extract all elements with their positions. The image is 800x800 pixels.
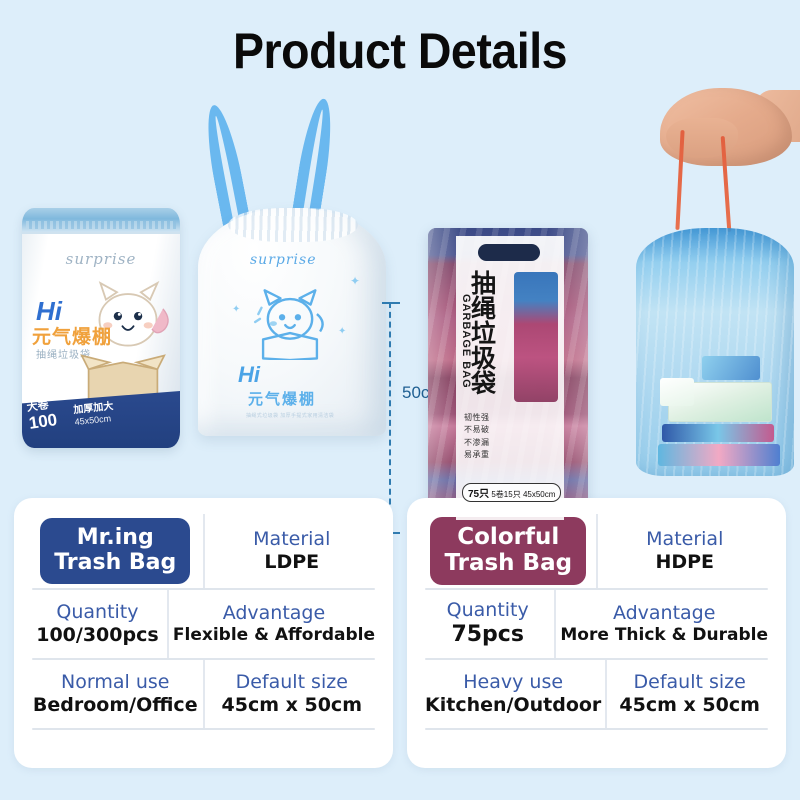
product-badge-mring: Mr.ing Trash Bag bbox=[40, 518, 190, 583]
badge-line-1: Colorful bbox=[444, 525, 572, 551]
package-spec-count: 75只 bbox=[468, 489, 489, 500]
content-item bbox=[658, 444, 780, 466]
page-title: Product Details bbox=[28, 22, 772, 80]
canister-brand-script: surprise bbox=[22, 250, 180, 268]
package-feature: 不渗漏 bbox=[464, 437, 490, 449]
advantage-label: Advantage bbox=[613, 603, 716, 625]
blue-trash-bag bbox=[636, 228, 794, 476]
sparkle-icon: ✦ bbox=[350, 274, 360, 288]
package-spec-size: 45x50cm bbox=[523, 490, 555, 499]
package-spec-detail: 5卷15只 bbox=[491, 490, 520, 499]
card-quantity-row: Quantity 100/300pcs Advantage Flexible &… bbox=[28, 590, 379, 658]
quantity-label: Quantity bbox=[56, 602, 138, 624]
advantage-cell: Advantage More Thick & Durable bbox=[556, 590, 772, 658]
size-value: 45cm x 50cm bbox=[619, 694, 760, 717]
usage-value: Bedroom/Office bbox=[33, 694, 198, 717]
spec-card-mring: Mr.ing Trash Bag Material LDPE Quantity … bbox=[14, 498, 393, 768]
package-window bbox=[514, 272, 558, 402]
spec-cards-container: Mr.ing Trash Bag Material LDPE Quantity … bbox=[0, 498, 800, 768]
product-photo-band: surprise Hi 元气爆棚 抽绳垃圾袋 bbox=[0, 88, 800, 488]
sparkle-icon: ✦ bbox=[232, 304, 240, 315]
card-badge-row: Mr.ing Trash Bag Material LDPE bbox=[28, 514, 379, 588]
content-item bbox=[702, 356, 760, 380]
usage-label: Heavy use bbox=[463, 672, 563, 694]
advantage-label: Advantage bbox=[223, 603, 326, 625]
package-feature: 易承重 bbox=[464, 449, 490, 461]
size-value: 45cm x 50cm bbox=[222, 694, 363, 717]
canister-count-number: 100 bbox=[28, 410, 59, 432]
product-badge-colorful: Colorful Trash Bag bbox=[430, 517, 586, 585]
usage-cell: Heavy use Kitchen/Outdoor bbox=[421, 660, 607, 728]
spec-card-colorful: Colorful Trash Bag Material HDPE Quantit… bbox=[407, 498, 786, 768]
size-label: Default size bbox=[236, 672, 348, 694]
product-details-page: Product Details surprise Hi 元气爆棚 抽绳垃圾袋 bbox=[0, 0, 800, 800]
canister-feature-label: 加厚加大 45x50cm bbox=[73, 401, 115, 428]
row-divider bbox=[32, 728, 375, 730]
badge-cell: Mr.ing Trash Bag bbox=[28, 514, 205, 588]
badge-line-2: Trash Bag bbox=[444, 551, 572, 577]
sparkle-icon: ✦ bbox=[338, 326, 346, 337]
bag-cinch-gathers bbox=[228, 208, 358, 242]
package-brand-logo bbox=[478, 244, 540, 261]
quantity-cell: Quantity 100/300pcs bbox=[28, 590, 169, 658]
quantity-value: 100/300pcs bbox=[36, 624, 158, 647]
usage-value: Kitchen/Outdoor bbox=[425, 694, 601, 717]
advantage-cell: Advantage Flexible & Affordable bbox=[169, 590, 379, 658]
canister-lid bbox=[22, 208, 180, 234]
card-usage-row: Normal use Bedroom/Office Default size 4… bbox=[28, 660, 379, 728]
usage-cell: Normal use Bedroom/Office bbox=[28, 660, 205, 728]
size-cell: Default size 45cm x 50cm bbox=[607, 660, 772, 728]
white-bag-slogan: 元气爆棚 bbox=[248, 388, 316, 409]
material-label: Material bbox=[253, 529, 330, 551]
quantity-label: Quantity bbox=[447, 600, 529, 622]
card-usage-row: Heavy use Kitchen/Outdoor Default size 4… bbox=[421, 660, 772, 728]
size-cell: Default size 45cm x 50cm bbox=[205, 660, 380, 728]
advantage-value: Flexible & Affordable bbox=[173, 625, 375, 645]
material-value: LDPE bbox=[264, 551, 319, 574]
cat-outline-icon bbox=[250, 284, 330, 360]
white-bag-fine-print: 抽绳式垃圾袋 加厚手提式家用清洁袋 bbox=[246, 412, 334, 419]
material-value: HDPE bbox=[655, 551, 714, 574]
product-image-canister: surprise Hi 元气爆棚 抽绳垃圾袋 bbox=[22, 208, 180, 448]
product-image-white-bag: surprise ✦ ✦ ✦ Hi 元气爆棚 抽 bbox=[196, 96, 396, 436]
quantity-value: 75pcs bbox=[451, 622, 524, 648]
product-image-hand-holding-bag bbox=[596, 88, 800, 488]
bag-contents bbox=[658, 344, 778, 466]
white-bag-body: surprise ✦ ✦ ✦ Hi 元气爆棚 抽 bbox=[198, 208, 386, 436]
package-feature: 不易破 bbox=[464, 424, 490, 436]
badge-line-1: Mr.ing bbox=[54, 526, 176, 551]
package-spec-badge: 75只 5卷15只 45x50cm bbox=[462, 483, 561, 502]
product-image-colorful-package: 抽绳垃圾袋 GARBAGE BAG 韧性强 不易破 不渗漏 易承重 75只 5卷… bbox=[428, 228, 588, 528]
package-feature: 韧性强 bbox=[464, 412, 490, 424]
package-label-panel: 抽绳垃圾袋 GARBAGE BAG 韧性强 不易破 不渗漏 易承重 75只 5卷… bbox=[456, 236, 564, 520]
canister-count-label: 大卷 100 bbox=[26, 399, 58, 432]
badge-cell: Colorful Trash Bag bbox=[421, 514, 598, 588]
white-bag-brand-script: surprise bbox=[250, 252, 317, 268]
badge-line-2: Trash Bag bbox=[54, 551, 176, 576]
material-cell: Material HDPE bbox=[598, 514, 773, 588]
size-label: Default size bbox=[634, 672, 746, 694]
usage-label: Normal use bbox=[61, 672, 169, 694]
quantity-cell: Quantity 75pcs bbox=[421, 590, 556, 658]
content-item bbox=[660, 378, 694, 406]
canister-slogan: 元气爆棚 bbox=[32, 322, 112, 349]
card-quantity-row: Quantity 75pcs Advantage More Thick & Du… bbox=[421, 590, 772, 658]
content-item bbox=[662, 424, 774, 442]
material-label: Material bbox=[646, 529, 723, 551]
row-divider bbox=[425, 728, 768, 730]
package-english-name: GARBAGE BAG bbox=[460, 294, 472, 389]
card-badge-row: Colorful Trash Bag Material HDPE bbox=[421, 514, 772, 588]
material-cell: Material LDPE bbox=[205, 514, 380, 588]
advantage-value: More Thick & Durable bbox=[560, 625, 768, 645]
package-feature-list: 韧性强 不易破 不渗漏 易承重 bbox=[464, 412, 490, 462]
white-bag-hi-text: Hi bbox=[238, 362, 260, 388]
